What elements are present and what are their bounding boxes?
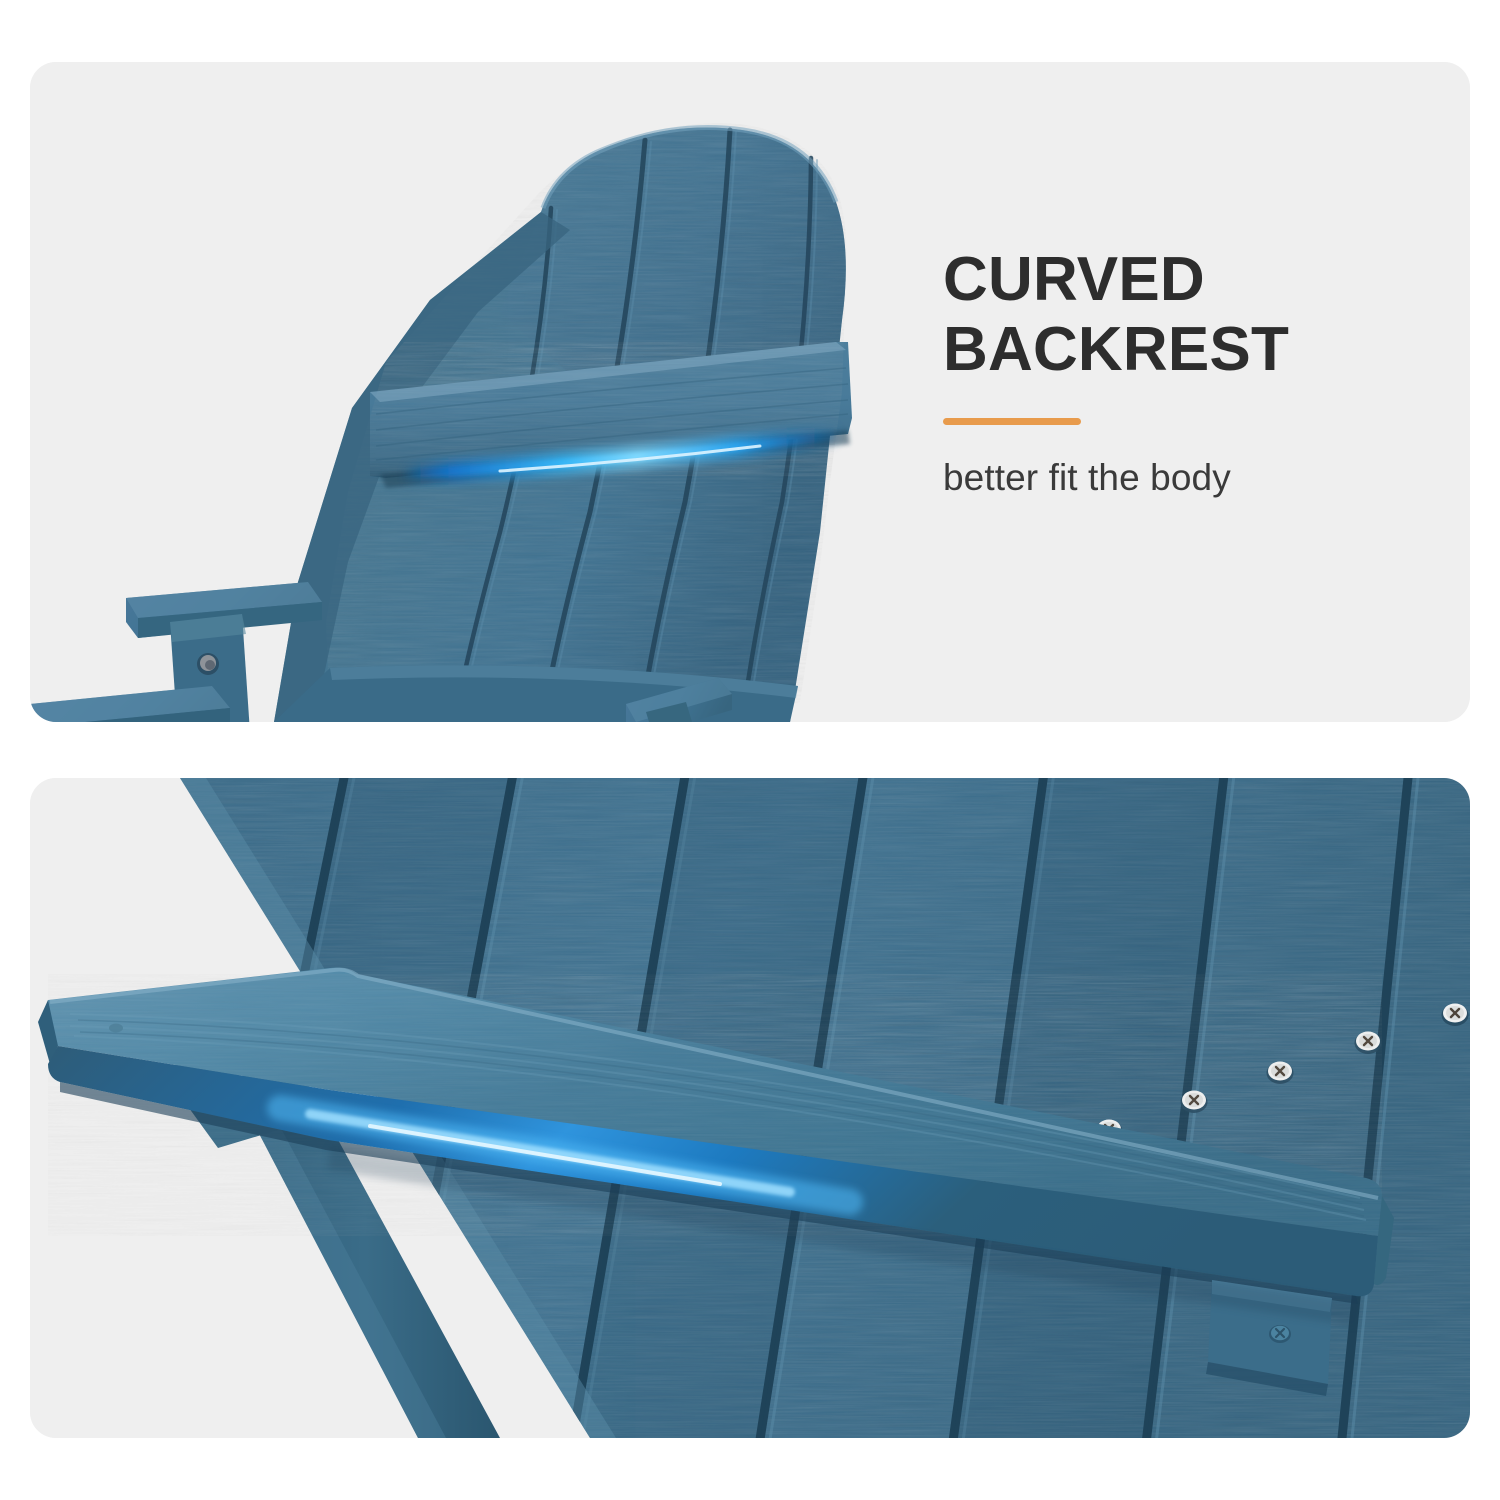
feature-panel-curved-backrest: CURVED BACKREST better fit the body xyxy=(30,62,1470,722)
infographic-page: CURVED BACKREST better fit the body xyxy=(0,0,1500,1500)
feature-title-curved-backrest: CURVED BACKREST xyxy=(943,245,1463,385)
chair-armrest-image xyxy=(30,778,1470,1438)
feature-subtitle-curved-backrest: better fit the body xyxy=(943,456,1463,500)
feature-panel-wide-armrests: WIDE ARMRESTS for better arm relaxation xyxy=(30,778,1470,1438)
feature-text-block-1: CURVED BACKREST better fit the body xyxy=(943,245,1463,500)
accent-divider-1 xyxy=(943,418,1081,425)
